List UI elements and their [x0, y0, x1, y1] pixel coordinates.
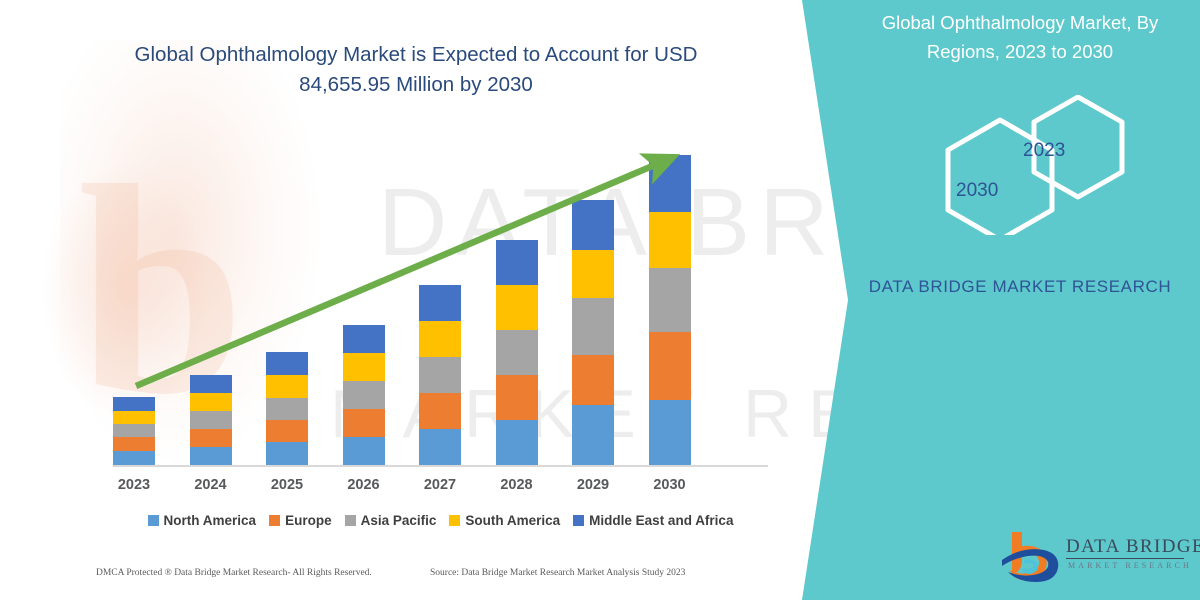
- bar-2029: [572, 200, 614, 465]
- bar-segment: [113, 424, 155, 437]
- bar-segment: [343, 353, 385, 381]
- bar-segment: [419, 321, 461, 357]
- bar-segment: [496, 330, 538, 375]
- bar-segment: [113, 397, 155, 411]
- bar-segment: [190, 375, 232, 393]
- x-axis-label-2025: 2025: [247, 477, 327, 493]
- bar-segment: [343, 437, 385, 465]
- bar-segment: [266, 398, 308, 420]
- hexagon-badges: [900, 95, 1180, 235]
- bar-segment: [572, 298, 614, 355]
- regions-panel-title: Global Ophthalmology Market, By Regions,…: [845, 8, 1195, 66]
- bar-segment: [266, 375, 308, 398]
- brand-name-text: DATA BRIDGE MARKET RESEARCH: [845, 273, 1195, 300]
- bar-segment: [572, 355, 614, 405]
- bar-segment: [649, 155, 691, 212]
- legend-item-north-america[interactable]: North America: [148, 513, 257, 528]
- legend-item-asia-pacific[interactable]: Asia Pacific: [345, 513, 437, 528]
- chart-panel: Global Ophthalmology Market is Expected …: [0, 0, 860, 600]
- logo-mark-icon: [1000, 530, 1064, 584]
- regions-panel: Global Ophthalmology Market, By Regions,…: [840, 0, 1200, 600]
- bar-segment: [419, 285, 461, 321]
- bar-segment: [266, 420, 308, 442]
- bar-segment: [190, 411, 232, 429]
- bar-segment: [343, 325, 385, 353]
- bar-segment: [343, 409, 385, 437]
- bar-segment: [572, 250, 614, 298]
- bar-2030: [649, 155, 691, 465]
- bar-segment: [496, 375, 538, 420]
- legend-label: Middle East and Africa: [589, 513, 733, 528]
- bar-2025: [266, 352, 308, 465]
- x-axis-label-2024: 2024: [171, 477, 251, 493]
- infographic-canvas: b DATA BRIDGE MARKET RESEARCH Global Oph…: [0, 0, 1200, 600]
- x-axis-line: [113, 465, 768, 467]
- legend-swatch-icon: [449, 515, 460, 526]
- bar-2023: [113, 397, 155, 465]
- footer-source-text: Source: Data Bridge Market Research Mark…: [430, 568, 685, 578]
- bar-segment: [649, 400, 691, 465]
- bar-segment: [343, 381, 385, 409]
- logo-name: DATA BRIDGE: [1066, 536, 1200, 558]
- bar-2026: [343, 325, 385, 465]
- bar-segment: [113, 411, 155, 424]
- legend-label: Europe: [285, 513, 332, 528]
- data-bridge-logo: DATA BRIDGE MARKET RESEARCH: [1000, 530, 1190, 586]
- x-axis-label-2028: 2028: [477, 477, 557, 493]
- legend-swatch-icon: [345, 515, 356, 526]
- legend-swatch-icon: [148, 515, 159, 526]
- bar-segment: [113, 437, 155, 451]
- legend-item-south-america[interactable]: South America: [449, 513, 560, 528]
- x-axis-label-2026: 2026: [324, 477, 404, 493]
- bar-segment: [190, 429, 232, 447]
- bar-2024: [190, 375, 232, 465]
- bar-segment: [266, 442, 308, 465]
- bar-segment: [496, 240, 538, 285]
- bar-segment: [496, 420, 538, 465]
- logo-divider: [1066, 558, 1184, 559]
- legend-swatch-icon: [269, 515, 280, 526]
- legend-item-middle-east-and-africa[interactable]: Middle East and Africa: [573, 513, 733, 528]
- bar-segment: [649, 212, 691, 268]
- bar-segment: [266, 352, 308, 375]
- logo-tagline: MARKET RESEARCH: [1068, 561, 1192, 570]
- bar-segment: [572, 200, 614, 250]
- bar-segment: [572, 405, 614, 465]
- stacked-bar-chart: 20232024202520262027202820292030: [0, 0, 860, 600]
- bar-2028: [496, 240, 538, 465]
- legend-label: Asia Pacific: [361, 513, 437, 528]
- legend-label: South America: [465, 513, 560, 528]
- x-axis-label-2023: 2023: [94, 477, 174, 493]
- bar-segment: [419, 393, 461, 429]
- bar-segment: [113, 451, 155, 465]
- bar-segment: [419, 429, 461, 465]
- footer-dmca-text: DMCA Protected ® Data Bridge Market Rese…: [96, 568, 372, 578]
- x-axis-label-2027: 2027: [400, 477, 480, 493]
- bar-segment: [649, 268, 691, 332]
- chart-legend: North AmericaEuropeAsia PacificSouth Ame…: [113, 513, 768, 528]
- x-axis-label-2030: 2030: [630, 477, 710, 493]
- bar-2027: [419, 285, 461, 465]
- hexagon-label-2023: 2023: [1023, 140, 1065, 162]
- bar-segment: [649, 332, 691, 400]
- bar-segment: [419, 357, 461, 393]
- hexagon-label-2030: 2030: [956, 180, 998, 202]
- x-axis-label-2029: 2029: [553, 477, 633, 493]
- bar-segment: [190, 447, 232, 465]
- legend-item-europe[interactable]: Europe: [269, 513, 332, 528]
- legend-label: North America: [164, 513, 257, 528]
- bar-segment: [190, 393, 232, 411]
- legend-swatch-icon: [573, 515, 584, 526]
- bar-segment: [496, 285, 538, 330]
